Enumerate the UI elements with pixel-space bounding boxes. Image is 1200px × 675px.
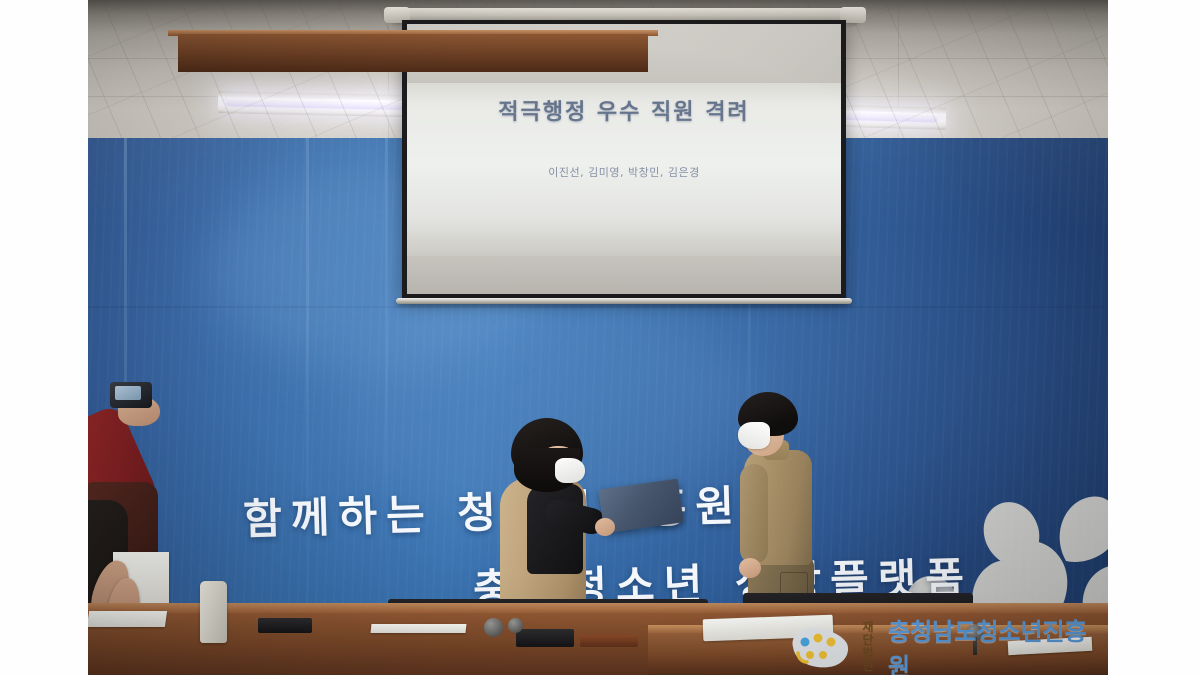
logo-badge-line2: 법인	[856, 647, 882, 673]
recipient-hand	[739, 558, 761, 578]
presenter-hand	[595, 518, 615, 536]
star-figures-logo-icon	[788, 625, 850, 669]
recipient-face-mask	[738, 422, 770, 449]
pillarbox-right	[1108, 0, 1200, 675]
microphone-icon	[484, 618, 503, 637]
microphone-icon	[508, 618, 523, 633]
desk-papers-center	[371, 624, 467, 633]
screen-weight-bar	[396, 298, 852, 304]
recipient-arm	[740, 464, 768, 564]
desk-device-case	[258, 618, 312, 633]
pillarbox-left	[0, 0, 88, 675]
logo-badge-line1: 재단	[856, 621, 882, 647]
screenshot-root: 함께하는 청소년진흥원 충남청소년 성장플랫폼 재단법인 충청남도청소년진흥원 …	[0, 0, 1200, 675]
slide-title: 적극행정 우수 직원 격려	[407, 94, 841, 126]
desk-device-right	[516, 629, 574, 647]
slide-subtitle: 이진선, 김미영, 박창민, 김은경	[407, 164, 841, 180]
desk-tumbler	[200, 581, 227, 643]
podium-org-name: 충청남도청소년진흥원	[888, 612, 1108, 675]
logo-badge: 재단 법인	[856, 621, 882, 673]
desk-front-panel	[178, 34, 648, 72]
desk-wood-block	[580, 635, 638, 647]
ceremony-photograph: 함께하는 청소년진흥원 충남청소년 성장플랫폼 재단법인 충청남도청소년진흥원 …	[88, 0, 1108, 675]
presenter-face-mask	[555, 458, 585, 483]
desk-papers-left	[88, 611, 167, 627]
smartphone-screen	[115, 386, 141, 400]
podium-logo-sign: 재단 법인 충청남도청소년진흥원	[788, 623, 1108, 671]
